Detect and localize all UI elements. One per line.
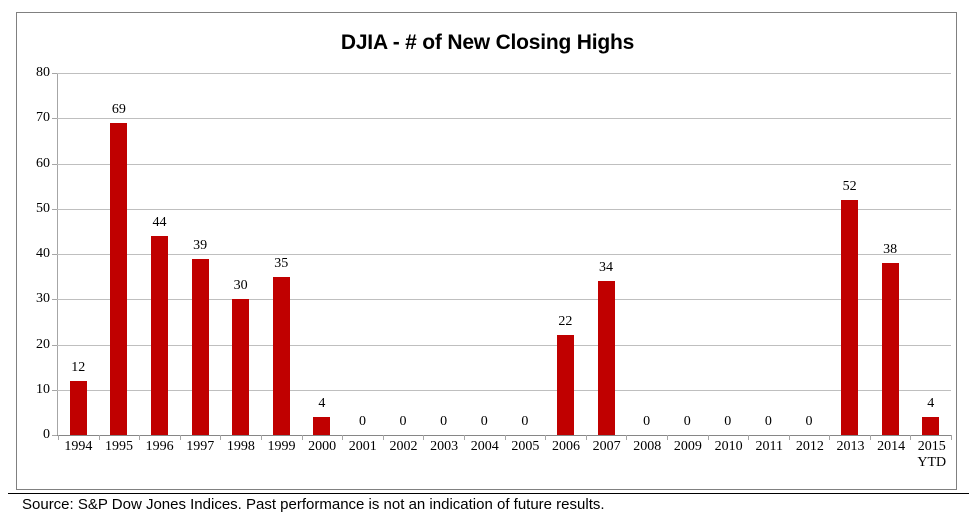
bar[interactable] — [151, 236, 168, 435]
x-tick-label: 2002 — [383, 439, 424, 471]
x-tick-label: 2013 — [830, 439, 871, 471]
x-tick-label: 2001 — [342, 439, 383, 471]
x-tick-label: 2010 — [708, 439, 749, 471]
bar-category[interactable]: 69 — [99, 73, 140, 435]
bar-category[interactable]: 39 — [180, 73, 221, 435]
bar-value-label: 30 — [220, 279, 261, 293]
bar[interactable] — [192, 259, 209, 435]
x-tick-label-line1: 2015 — [918, 439, 946, 454]
plot-area: 01020304050607080 1269443930354000002234… — [57, 73, 951, 435]
x-tick-label-line1: 2004 — [471, 439, 499, 454]
x-tick-label-line1: 2011 — [755, 439, 782, 454]
x-tick-label: 2000 — [302, 439, 343, 471]
y-tick-mark-70 — [52, 118, 57, 119]
bar-value-label: 0 — [505, 415, 546, 429]
bar-category[interactable]: 0 — [383, 73, 424, 435]
bar-category[interactable]: 34 — [586, 73, 627, 435]
x-tick-label: 2014 — [871, 439, 912, 471]
bar[interactable] — [232, 299, 249, 435]
bar-value-label: 0 — [464, 415, 505, 429]
bar-value-label: 52 — [829, 180, 870, 194]
x-tick-label-line1: 2006 — [552, 439, 580, 454]
bar-value-label: 4 — [302, 397, 343, 411]
x-tick-label: 1996 — [139, 439, 180, 471]
chart-page: DJIA - # of New Closing Highs 0102030405… — [0, 0, 977, 513]
bar-category[interactable]: 0 — [423, 73, 464, 435]
bar-category[interactable]: 35 — [261, 73, 302, 435]
bar-value-label: 0 — [789, 415, 830, 429]
bar[interactable] — [598, 281, 615, 435]
y-tick-label-0: 0 — [43, 427, 50, 443]
y-tick-label-40: 40 — [36, 246, 50, 262]
bar-value-label: 39 — [180, 239, 221, 253]
chart-title: DJIA - # of New Closing Highs — [17, 31, 958, 55]
bar-value-label: 12 — [58, 361, 99, 375]
y-tick-label-60: 60 — [36, 156, 50, 172]
x-tick-label: 2015YTD — [911, 439, 952, 471]
footer-divider — [8, 493, 969, 494]
x-tick-label: 1997 — [180, 439, 221, 471]
bar-category[interactable]: 0 — [464, 73, 505, 435]
bar-series: 12694439303540000022340000052384 — [58, 73, 951, 435]
bar-value-label: 0 — [423, 415, 464, 429]
bar-value-label: 35 — [261, 257, 302, 271]
y-tick-label-70: 70 — [36, 110, 50, 126]
bar-value-label: 34 — [586, 261, 627, 275]
x-tick-label: 2009 — [668, 439, 709, 471]
y-tick-mark-50 — [52, 209, 57, 210]
bar-value-label: 0 — [626, 415, 667, 429]
x-tick-label: 2005 — [505, 439, 546, 471]
x-tick-label-line1: 1996 — [146, 439, 174, 454]
x-tick-label-line1: 1997 — [186, 439, 214, 454]
x-tick-label: 2012 — [790, 439, 831, 471]
x-tick-label-line1: 2005 — [511, 439, 539, 454]
y-tick-mark-10 — [52, 390, 57, 391]
bar-value-label: 0 — [342, 415, 383, 429]
source-note: Source: S&P Dow Jones Indices. Past perf… — [22, 496, 605, 513]
y-tick-label-30: 30 — [36, 291, 50, 307]
x-tick-label-line1: 2001 — [349, 439, 377, 454]
bar[interactable] — [557, 335, 574, 435]
bar-category[interactable]: 0 — [708, 73, 749, 435]
x-tick-label-line1: 2009 — [674, 439, 702, 454]
x-tick-label-line1: 2014 — [877, 439, 905, 454]
bar-category[interactable]: 12 — [58, 73, 99, 435]
chart-frame: DJIA - # of New Closing Highs 0102030405… — [16, 12, 957, 490]
bar[interactable] — [110, 123, 127, 435]
bar-value-label: 44 — [139, 216, 180, 230]
bar-category[interactable]: 30 — [220, 73, 261, 435]
bar-value-label: 38 — [870, 243, 911, 257]
bar[interactable] — [273, 277, 290, 435]
x-tick-label-line1: 2008 — [633, 439, 661, 454]
y-tick-mark-0 — [52, 435, 57, 436]
bar[interactable] — [70, 381, 87, 435]
bar-category[interactable]: 0 — [748, 73, 789, 435]
x-tick-label: 2004 — [464, 439, 505, 471]
x-tick-label: 2006 — [546, 439, 587, 471]
x-tick-label-line1: 2010 — [715, 439, 743, 454]
x-tick-label-line1: 1998 — [227, 439, 255, 454]
bar-value-label: 0 — [708, 415, 749, 429]
x-tick-label-line1: 1999 — [268, 439, 296, 454]
bar-value-label: 0 — [383, 415, 424, 429]
x-tick-label-line1: 2000 — [308, 439, 336, 454]
bar[interactable] — [882, 263, 899, 435]
y-tick-label-20: 20 — [36, 337, 50, 353]
y-tick-mark-20 — [52, 345, 57, 346]
bar-category[interactable]: 0 — [667, 73, 708, 435]
bar-value-label: 0 — [667, 415, 708, 429]
bar-category[interactable]: 4 — [910, 73, 951, 435]
y-tick-label-10: 10 — [36, 382, 50, 398]
bar-category[interactable]: 0 — [789, 73, 830, 435]
x-tick-label-line1: 1994 — [64, 439, 92, 454]
y-tick-label-80: 80 — [36, 65, 50, 81]
x-tick-label: 1999 — [261, 439, 302, 471]
x-tick-label: 1998 — [221, 439, 262, 471]
x-tick-label: 2011 — [749, 439, 790, 471]
x-tick-label-line1: 2012 — [796, 439, 824, 454]
bar-category[interactable]: 0 — [505, 73, 546, 435]
bar-category[interactable]: 44 — [139, 73, 180, 435]
x-tick-label: 2008 — [627, 439, 668, 471]
x-tick-label-line2: YTD — [911, 455, 952, 471]
bar-value-label: 0 — [748, 415, 789, 429]
bar-value-label: 22 — [545, 315, 586, 329]
bar-category[interactable]: 38 — [870, 73, 911, 435]
x-tick-label-line1: 2003 — [430, 439, 458, 454]
bar-category[interactable]: 4 — [302, 73, 343, 435]
y-tick-mark-40 — [52, 254, 57, 255]
x-tick-label: 1994 — [58, 439, 99, 471]
bar[interactable] — [922, 417, 939, 435]
x-tick-label-line1: 1995 — [105, 439, 133, 454]
bar-value-label: 4 — [910, 397, 951, 411]
bar[interactable] — [841, 200, 858, 435]
y-tick-label-50: 50 — [36, 201, 50, 217]
y-tick-mark-30 — [52, 299, 57, 300]
y-tick-mark-80 — [52, 73, 57, 74]
x-tick-label-line1: 2007 — [593, 439, 621, 454]
x-tick-label-line1: 2013 — [836, 439, 864, 454]
x-tick-label: 2007 — [586, 439, 627, 471]
bar-value-label: 69 — [99, 103, 140, 117]
bar-category[interactable]: 0 — [626, 73, 667, 435]
x-axis-tick-labels: 1994199519961997199819992000200120022003… — [58, 439, 952, 471]
x-tick-label-line1: 2002 — [389, 439, 417, 454]
y-tick-mark-60 — [52, 164, 57, 165]
x-tick-label: 1995 — [99, 439, 140, 471]
x-tick-label: 2003 — [424, 439, 465, 471]
bar[interactable] — [313, 417, 330, 435]
bar-category[interactable]: 0 — [342, 73, 383, 435]
bar-category[interactable]: 52 — [829, 73, 870, 435]
bar-category[interactable]: 22 — [545, 73, 586, 435]
